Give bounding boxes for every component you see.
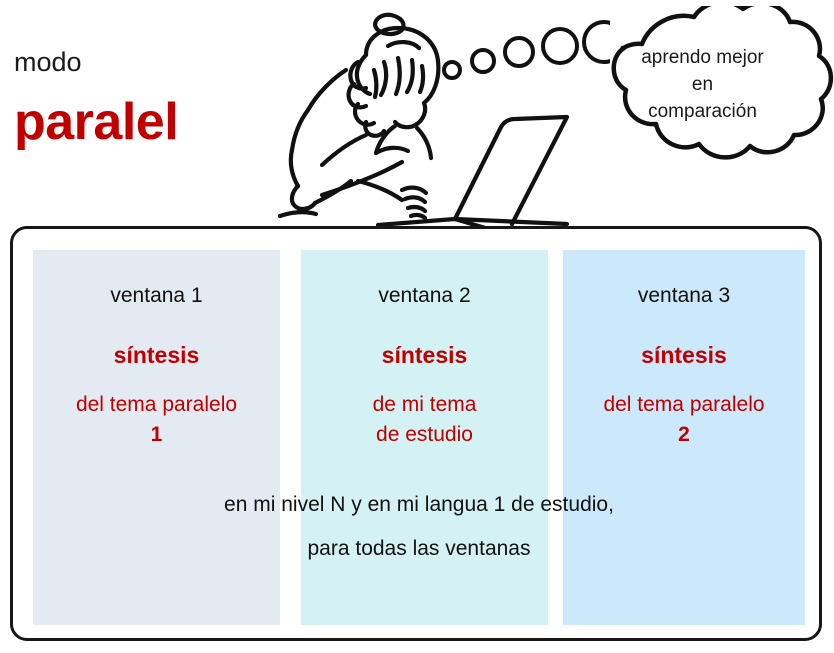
window-2-subtitle-line-2: de estudio bbox=[376, 423, 473, 446]
window-column-1[interactable]: ventana 1 síntesis del tema paralelo 1 bbox=[33, 250, 280, 625]
mode-label: modo bbox=[14, 46, 82, 78]
window-1-subtitle-line-2: 1 bbox=[151, 423, 163, 446]
windows-columns: ventana 1 síntesis del tema paralelo 1 v… bbox=[33, 250, 805, 625]
window-3-keyword: síntesis bbox=[563, 341, 805, 369]
window-column-3[interactable]: ventana 3 síntesis del tema paralelo 2 bbox=[563, 250, 805, 625]
header-illustration-area: modo paralel bbox=[0, 0, 834, 228]
window-2-title: ventana 2 bbox=[301, 283, 548, 309]
thought-line-1: aprendo mejor bbox=[600, 44, 805, 71]
window-2-subtitle: de mi tema de estudio bbox=[301, 390, 548, 450]
thought-cloud-text: aprendo mejor en comparación bbox=[600, 44, 805, 125]
window-1-keyword: síntesis bbox=[33, 341, 280, 369]
window-3-subtitle-line-2: 2 bbox=[678, 423, 690, 446]
window-3-subtitle-line-1: del tema paralelo bbox=[603, 393, 764, 416]
window-2-keyword: síntesis bbox=[301, 341, 548, 369]
window-column-2[interactable]: ventana 2 síntesis de mi tema de estudio bbox=[301, 250, 548, 625]
mode-title: paralel bbox=[14, 92, 178, 152]
thought-line-2: en bbox=[600, 71, 805, 98]
window-2-subtitle-line-1: de mi tema bbox=[373, 393, 477, 416]
window-1-title: ventana 1 bbox=[33, 283, 280, 309]
parallel-mode-panel: ventana 1 síntesis del tema paralelo 1 v… bbox=[10, 226, 822, 641]
window-1-subtitle: del tema paralelo 1 bbox=[33, 390, 280, 450]
window-3-subtitle: del tema paralelo 2 bbox=[563, 390, 805, 450]
window-1-subtitle-line-1: del tema paralelo bbox=[76, 393, 237, 416]
thought-line-3: comparación bbox=[600, 98, 805, 125]
window-3-title: ventana 3 bbox=[563, 283, 805, 309]
